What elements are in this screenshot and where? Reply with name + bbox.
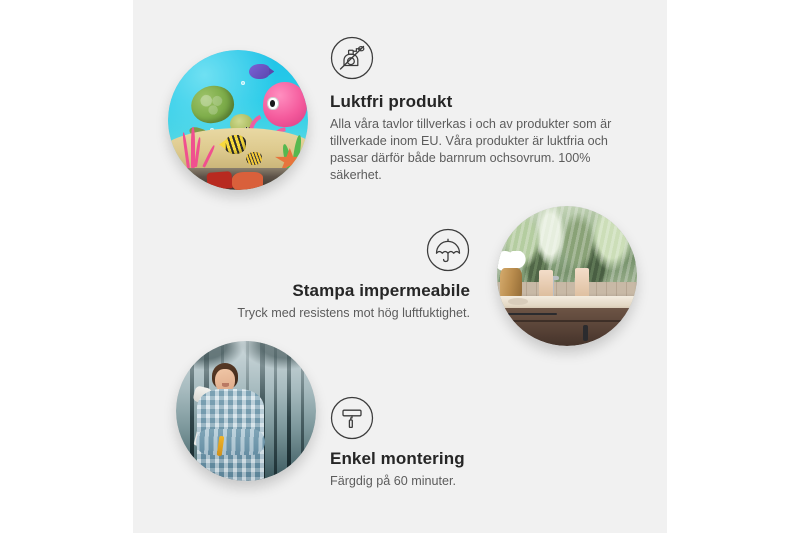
underwater-photo-inner xyxy=(168,50,308,190)
cabinet-handle xyxy=(620,325,626,342)
coral-branch xyxy=(182,132,190,168)
product-feature-banner: Luktfri produkt Alla våra tavlor tillver… xyxy=(0,0,800,533)
no-fragrance-icon xyxy=(330,36,374,80)
paint-roller-icon-wrap xyxy=(330,396,610,440)
coral-icon xyxy=(176,126,224,168)
bathroom-photo-inner xyxy=(497,206,637,346)
feature-odourless: Luktfri produkt Alla våra tavlor tillver… xyxy=(330,36,630,184)
tree-trunk xyxy=(301,341,304,481)
painter-photo-inner xyxy=(176,341,316,481)
vanity-cabinet xyxy=(503,308,637,346)
painter-forest-photo xyxy=(176,341,316,481)
bubble-icon xyxy=(241,81,245,85)
tree-trunk xyxy=(287,341,291,481)
small-fish-icon xyxy=(246,152,261,165)
feature-assembly: Enkel montering Färgdig på 60 minuter. xyxy=(330,396,610,490)
sea-floor-object xyxy=(232,172,263,190)
paint-roller-icon xyxy=(330,396,374,440)
octopus-eye xyxy=(267,97,278,111)
bathroom-wallpaper-photo xyxy=(497,206,637,346)
umbrella-icon xyxy=(426,228,470,272)
folded-arms xyxy=(196,429,266,455)
yellow-fish-icon xyxy=(224,135,246,153)
cabinet-handle xyxy=(583,325,589,342)
feature-description: Alla våra tavlor tillverkas i och av pro… xyxy=(330,116,630,184)
tree-trunk xyxy=(274,341,277,481)
umbrella-icon-wrap xyxy=(205,228,470,272)
coral-branch xyxy=(191,127,195,167)
purple-fish-icon xyxy=(249,64,270,79)
underwater-cartoon-photo xyxy=(168,50,308,190)
sea-floor-object xyxy=(207,171,233,190)
feature-description: Tryck med resistens mot hög luftfuktighe… xyxy=(205,305,470,322)
feature-title: Enkel montering xyxy=(330,448,610,469)
coral-branch xyxy=(194,137,202,167)
coral-branch xyxy=(202,145,216,168)
person-smile xyxy=(222,383,230,387)
feature-title: Luktfri produkt xyxy=(330,91,630,112)
feature-waterproof: Stampa impermeabile Tryck med resistens … xyxy=(205,228,470,322)
no-fragrance-icon-wrap xyxy=(330,36,630,80)
octopus-head xyxy=(263,82,307,127)
painter-person xyxy=(193,363,269,481)
feature-description: Färgdig på 60 minuter. xyxy=(330,473,610,490)
feature-title: Stampa impermeabile xyxy=(205,280,470,301)
